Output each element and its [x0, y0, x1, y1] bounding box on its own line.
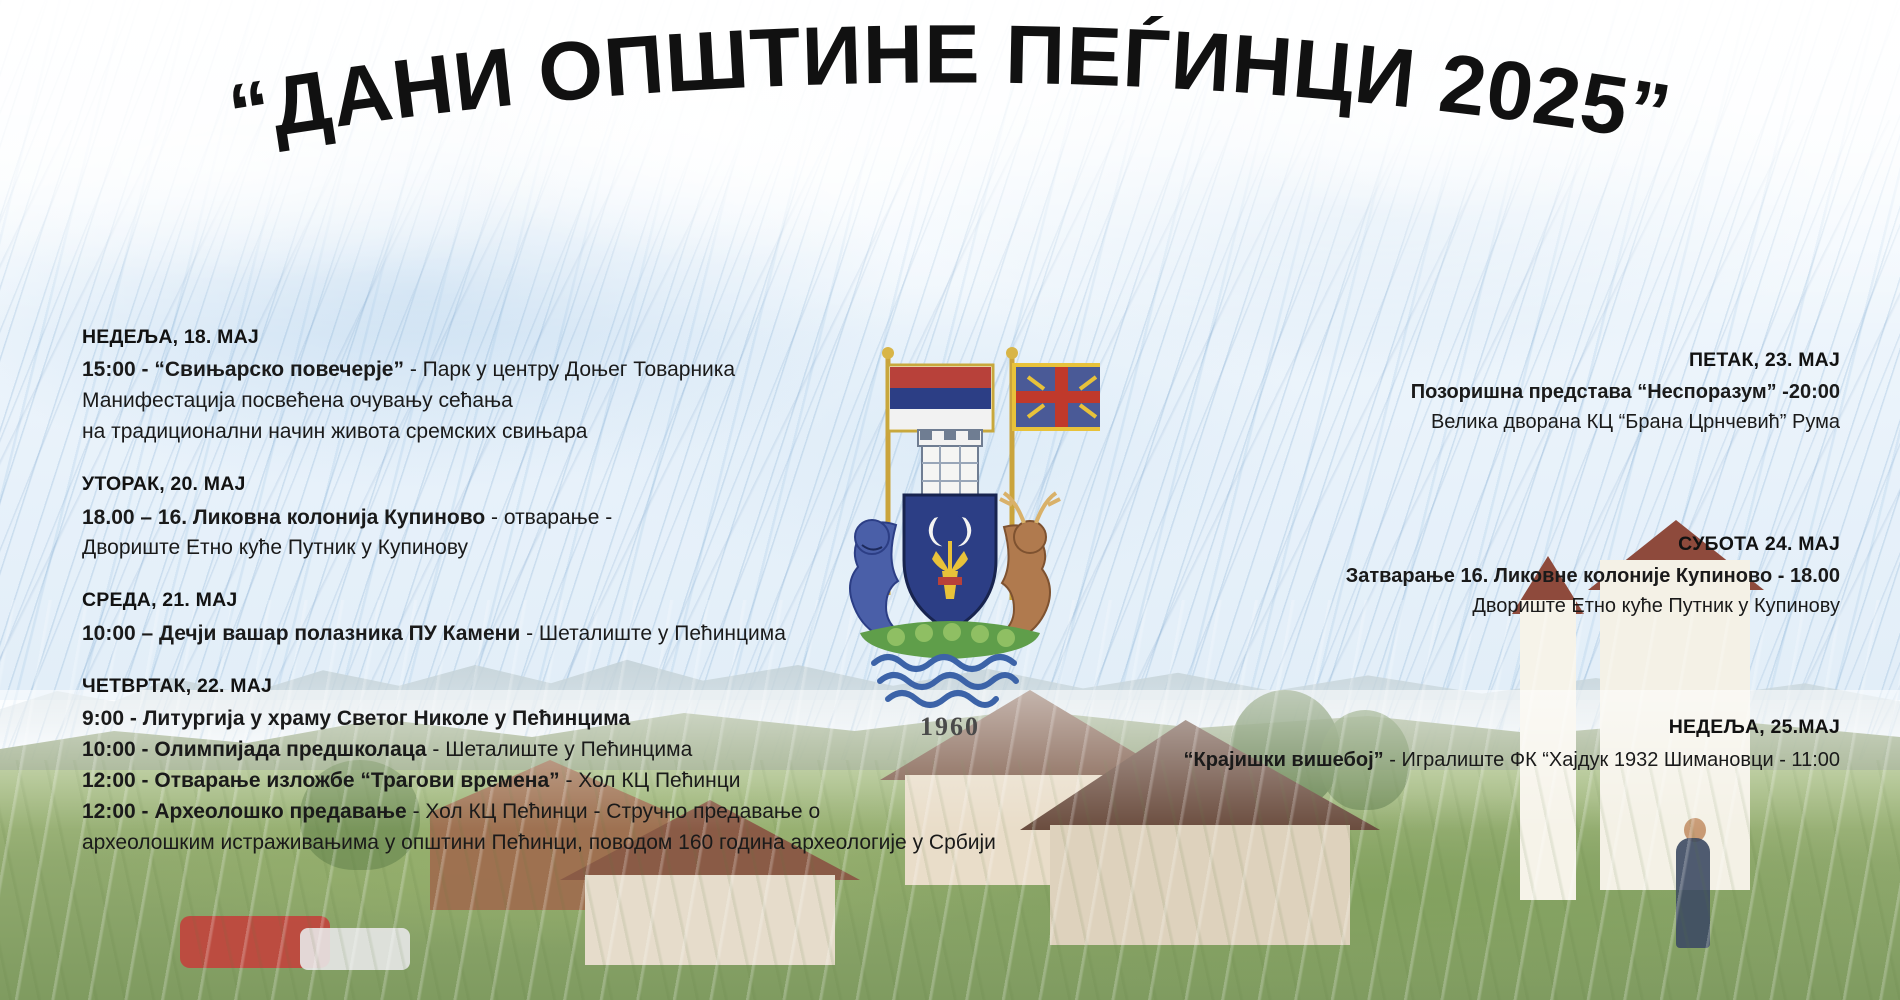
title-text: “ДАНИ ОПШТИНЕ ПЕЃИНЦИ 2025” — [222, 16, 1677, 160]
poster-title: “ДАНИ ОПШТИНЕ ПЕЃИНЦИ 2025” — [0, 16, 1900, 166]
event-line: археолошким истраживањима у општини Пећи… — [82, 829, 1082, 857]
event-line: Манифестација посвећена очувању сећања — [82, 387, 1082, 415]
event-line: 10:00 - Олимпијада предшколаца - Шеталиш… — [82, 736, 1082, 764]
event-title: 10:00 – Дечји вашар полазника ПУ Камени — [82, 622, 520, 645]
event-title: 18.00 – 16. Ликовна колонија Купиново — [82, 506, 485, 529]
schedule-left-column: НЕДЕЉА, 18. МАЈ 15:00 - “Свињарско повеч… — [82, 325, 1082, 860]
event-line: на традиционални начин живота сремских с… — [82, 418, 1082, 446]
event-detail: - Хол КЦ Пећинци — [560, 769, 741, 792]
event-detail: - отварање - — [485, 506, 612, 529]
event-detail: - Игралиште ФК “Хајдук 1932 Шимановци - … — [1384, 749, 1840, 771]
day-heading: УТОРАК, 20. МАЈ — [82, 472, 1082, 496]
event-detail: - Парк у центру Доњег Товарника — [404, 358, 735, 381]
event-detail: на традиционални начин живота сремских с… — [82, 420, 587, 443]
event-line: 15:00 - “Свињарско повечерје” - Парк у ц… — [82, 356, 1082, 384]
event-detail: Двориште Етно куће Путник у Купинову — [82, 536, 468, 559]
event-detail: - Шеталиште у Пећинцима — [520, 622, 786, 645]
day-heading: НЕДЕЉА, 18. МАЈ — [82, 325, 1082, 349]
schedule-block-sunday-18: НЕДЕЉА, 18. МАЈ 15:00 - “Свињарско повеч… — [82, 325, 1082, 446]
schedule-block-tuesday-20: УТОРАК, 20. МАЈ 18.00 – 16. Ликовна коло… — [82, 472, 1082, 562]
schedule-block-friday-23: ПЕТАК, 23. МАЈ Позоришна представа “Несп… — [1080, 348, 1840, 436]
event-title: Позоришна представа “Неспоразум” -20:00 — [1411, 381, 1840, 403]
event-detail: Велика дворана КЦ “Брана Црнчевић” Рума — [1431, 411, 1840, 433]
event-title: “Крајишки вишебој” — [1183, 749, 1383, 771]
event-detail: Двориште Етно куће Путник у Купинову — [1472, 595, 1840, 617]
event-line: “Крајишки вишебој” - Игралиште ФК “Хајду… — [1080, 747, 1840, 774]
schedule-right-column: ПЕТАК, 23. МАЈ Позоришна представа “Несп… — [1080, 348, 1840, 776]
event-detail: археолошким истраживањима у општини Пећи… — [82, 831, 996, 854]
event-title: 12:00 - Отварање изложбе “Трагови времен… — [82, 769, 560, 792]
schedule-block-saturday-24: СУБОТА 24. МАЈ Затварање 16. Ликовне кол… — [1080, 532, 1840, 620]
event-line: 12:00 - Отварање изложбе “Трагови времен… — [82, 767, 1082, 795]
event-line: 12:00 - Археолошко предавање - Хол КЦ Пе… — [82, 798, 1082, 826]
event-line: Двориште Етно куће Путник у Купинову — [1080, 593, 1840, 620]
day-heading: СРЕДА, 21. МАЈ — [82, 588, 1082, 612]
event-line: 9:00 - Литургија у храму Светог Николе у… — [82, 705, 1082, 733]
event-title: 9:00 - Литургија у храму Светог Николе у… — [82, 707, 630, 730]
poster-canvas: “ДАНИ ОПШТИНЕ ПЕЃИНЦИ 2025” — [0, 0, 1900, 1000]
event-line: Двориште Етно куће Путник у Купинову — [82, 534, 1082, 562]
event-title: 15:00 - “Свињарско повечерје” — [82, 358, 404, 381]
event-line: Позоришна представа “Неспоразум” -20:00 — [1080, 379, 1840, 406]
event-line: Велика дворана КЦ “Брана Црнчевић” Рума — [1080, 409, 1840, 436]
schedule-block-wednesday-21: СРЕДА, 21. МАЈ 10:00 – Дечји вашар полаз… — [82, 588, 1082, 647]
event-detail: - Шеталиште у Пећинцима — [427, 738, 693, 761]
event-line: Затварање 16. Ликовне колоније Купиново … — [1080, 563, 1840, 590]
day-heading: ЧЕТВРТАК, 22. МАЈ — [82, 674, 1082, 698]
event-detail: Манифестација посвећена очувању сећања — [82, 389, 513, 412]
event-detail: - Хол КЦ Пећинци - Стручно предавање о — [407, 800, 820, 823]
day-heading: НЕДЕЉА, 25.МАЈ — [1080, 715, 1840, 739]
event-line: 10:00 – Дечји вашар полазника ПУ Камени … — [82, 620, 1082, 648]
schedule-block-sunday-25: НЕДЕЉА, 25.МАЈ “Крајишки вишебој” - Игра… — [1080, 715, 1840, 773]
day-heading: ПЕТАК, 23. МАЈ — [1080, 348, 1840, 372]
event-line: 18.00 – 16. Ликовна колонија Купиново - … — [82, 504, 1082, 532]
title-arc-svg: “ДАНИ ОПШТИНЕ ПЕЃИНЦИ 2025” — [0, 16, 1900, 166]
schedule-block-thursday-22: ЧЕТВРТАК, 22. МАЈ 9:00 - Литургија у хра… — [82, 674, 1082, 857]
event-title: 12:00 - Археолошко предавање — [82, 800, 407, 823]
event-title: Затварање 16. Ликовне колоније Купиново … — [1346, 565, 1840, 587]
day-heading: СУБОТА 24. МАЈ — [1080, 532, 1840, 556]
event-title: 10:00 - Олимпијада предшколаца — [82, 738, 427, 761]
